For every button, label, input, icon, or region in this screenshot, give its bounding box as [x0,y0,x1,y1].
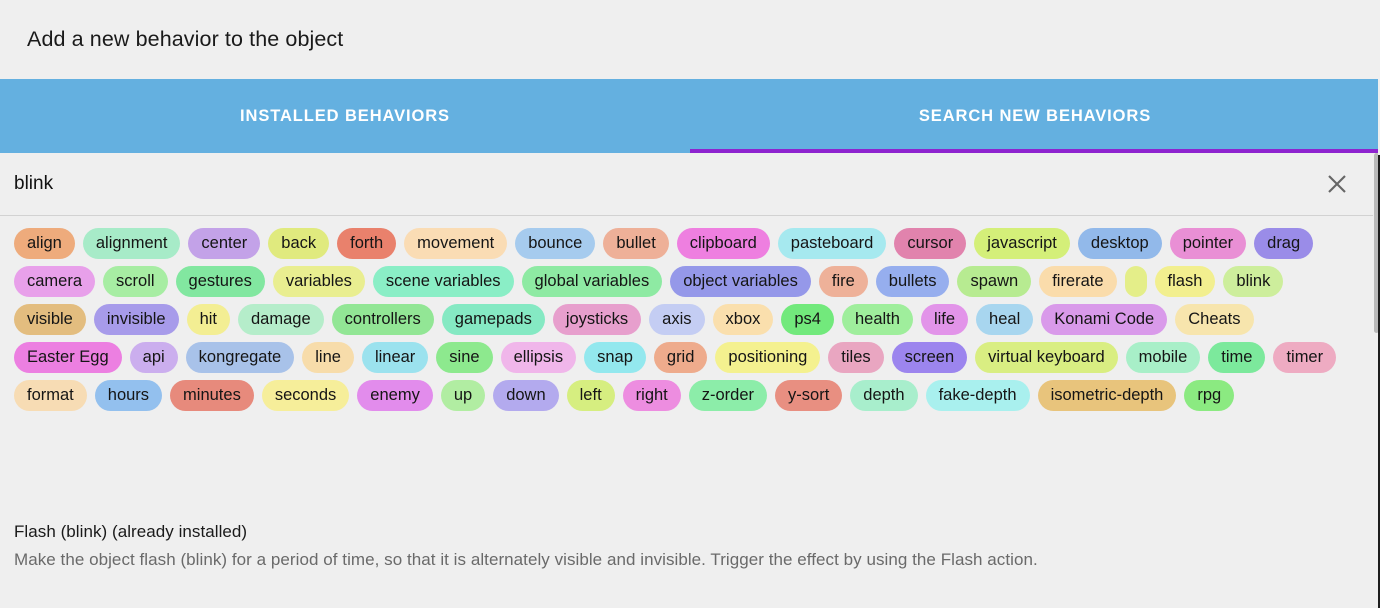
tag-label: health [855,311,900,328]
tag-fire[interactable]: fire [819,266,868,297]
tag-fake-depth[interactable]: fake-depth [926,380,1030,411]
tag-bullets[interactable]: bullets [876,266,950,297]
tag-line[interactable]: line [302,342,354,373]
tag-ellipsis[interactable]: ellipsis [501,342,577,373]
tag-grid[interactable]: grid [654,342,708,373]
tag-firerate[interactable]: firerate [1039,266,1116,297]
behavior-result: Flash (blink) (already installed) Make t… [14,522,1366,570]
tag-drag[interactable]: drag [1254,228,1313,259]
tag-rpg[interactable]: rpg [1184,380,1234,411]
tag-seconds[interactable]: seconds [262,380,349,411]
tag-health[interactable]: health [842,304,913,335]
tag-label: bounce [528,235,582,252]
tag-label: snap [597,349,633,366]
tag-label: heal [989,311,1020,328]
tag-flash[interactable]: flash [1155,266,1216,297]
behavior-result-description: Make the object flash (blink) for a peri… [14,550,1366,570]
tag-label: flash [1168,273,1203,290]
tag-label: forth [350,235,383,252]
tag-object-variables[interactable]: object variables [670,266,811,297]
tag-screen[interactable]: screen [892,342,968,373]
tag-label: down [506,387,545,404]
tag-label: mobile [1139,349,1188,366]
tag-label: line [315,349,341,366]
tag-snap[interactable]: snap [584,342,646,373]
tag-movement[interactable]: movement [404,228,507,259]
tag-global-variables[interactable]: global variables [522,266,663,297]
tag-label: xbox [726,311,761,328]
tab-bar: INSTALLED BEHAVIORS SEARCH NEW BEHAVIORS [0,79,1380,153]
tag-label: right [636,387,668,404]
tag-label: object variables [683,273,798,290]
tag-label: alignment [96,235,168,252]
tag-label: controllers [345,311,421,328]
tag-label: cursor [907,235,953,252]
tag-back[interactable]: back [268,228,329,259]
clear-search-button[interactable] [1320,167,1354,201]
tag-depth[interactable]: depth [850,380,917,411]
tab-installed-behaviors[interactable]: INSTALLED BEHAVIORS [0,79,690,153]
tag-z-order[interactable]: z-order [689,380,767,411]
tag-alignment[interactable]: alignment [83,228,181,259]
tag-label: minutes [183,387,241,404]
tag-label: invisible [107,311,166,328]
tag-cloud: alignalignmentcenterbackforthmovementbou… [14,228,1354,411]
tag-label: global variables [535,273,650,290]
tag-format[interactable]: format [14,380,87,411]
tag-label: fire [832,273,855,290]
tag-label: bullets [889,273,937,290]
tag-blank[interactable] [1125,266,1147,297]
dialog-title: Add a new behavior to the object [27,27,343,52]
tag-label: clipboard [690,235,757,252]
tag-label: desktop [1091,235,1149,252]
tag-enemy[interactable]: enemy [357,380,433,411]
tag-label: axis [662,311,691,328]
tag-label: movement [417,235,494,252]
tag-label: center [201,235,247,252]
tag-forth[interactable]: forth [337,228,396,259]
tag-camera[interactable]: camera [14,266,95,297]
tag-gestures[interactable]: gestures [176,266,265,297]
tag-tiles[interactable]: tiles [828,342,883,373]
tag-left[interactable]: left [567,380,615,411]
tag-hit[interactable]: hit [187,304,230,335]
tag-label: kongregate [199,349,282,366]
tag-ps4[interactable]: ps4 [781,304,834,335]
tab-search-new-behaviors[interactable]: SEARCH NEW BEHAVIORS [690,79,1380,153]
tag-label: tiles [841,349,870,366]
dialog-titlebar: Add a new behavior to the object [0,0,1380,79]
search-input[interactable] [14,164,1320,204]
tag-blink[interactable]: blink [1223,266,1283,297]
tag-pasteboard[interactable]: pasteboard [778,228,887,259]
tag-invisible[interactable]: invisible [94,304,179,335]
tag-label: ps4 [794,311,821,328]
tag-damage[interactable]: damage [238,304,324,335]
tag-label: bullet [616,235,655,252]
tag-easter-egg[interactable]: Easter Egg [14,342,122,373]
behavior-result-title: Flash (blink) (already installed) [14,522,1366,542]
tag-label: sine [449,349,479,366]
tag-label: joysticks [566,311,628,328]
tag-visible[interactable]: visible [14,304,86,335]
tag-label: virtual keyboard [988,349,1104,366]
tag-label: y-sort [788,387,829,404]
tag-label: blink [1236,273,1270,290]
tag-kongregate[interactable]: kongregate [186,342,295,373]
tag-bounce[interactable]: bounce [515,228,595,259]
close-icon [1326,173,1348,195]
tag-cursor[interactable]: cursor [894,228,966,259]
tag-label: grid [667,349,695,366]
tag-label: scene variables [386,273,501,290]
tag-time[interactable]: time [1208,342,1265,373]
tag-label: life [934,311,955,328]
tag-label: up [454,387,472,404]
tag-label: time [1221,349,1252,366]
tag-label: Cheats [1188,311,1240,328]
tag-label: hours [108,387,149,404]
tag-minutes[interactable]: minutes [170,380,254,411]
tag-bullet[interactable]: bullet [603,228,668,259]
tag-label: enemy [370,387,420,404]
tag-filter-area: alignalignmentcenterbackforthmovementbou… [0,216,1380,608]
tag-javascript[interactable]: javascript [974,228,1070,259]
add-behavior-dialog: Add a new behavior to the object INSTALL… [0,0,1380,608]
tag-label: camera [27,273,82,290]
tag-heal[interactable]: heal [976,304,1033,335]
tag-timer[interactable]: timer [1273,342,1336,373]
tag-label: firerate [1052,273,1103,290]
tag-scene-variables[interactable]: scene variables [373,266,514,297]
tag-label: left [580,387,602,404]
tag-label: rpg [1197,387,1221,404]
tag-label: seconds [275,387,336,404]
tag-controllers[interactable]: controllers [332,304,434,335]
tag-label: Easter Egg [27,349,109,366]
tag-right[interactable]: right [623,380,681,411]
tag-axis[interactable]: axis [649,304,704,335]
tag-joysticks[interactable]: joysticks [553,304,641,335]
tag-label: damage [251,311,311,328]
tag-positioning[interactable]: positioning [715,342,820,373]
tag-scroll[interactable]: scroll [103,266,168,297]
tag-label: gestures [189,273,252,290]
tag-mobile[interactable]: mobile [1126,342,1201,373]
tag-label: positioning [728,349,807,366]
tag-up[interactable]: up [441,380,485,411]
tag-pointer[interactable]: pointer [1170,228,1246,259]
tag-label: spawn [970,273,1018,290]
tag-label: gamepads [455,311,532,328]
tag-cheats[interactable]: Cheats [1175,304,1253,335]
tag-life[interactable]: life [921,304,968,335]
tag-label: timer [1286,349,1323,366]
tag-label: fake-depth [939,387,1017,404]
tag-isometric-depth[interactable]: isometric-depth [1038,380,1177,411]
tag-label: drag [1267,235,1300,252]
tag-label: screen [905,349,955,366]
tab-installed-behaviors-label: INSTALLED BEHAVIORS [240,107,450,126]
tag-label: javascript [987,235,1057,252]
tag-label: api [143,349,165,366]
tag-label: variables [286,273,352,290]
tag-label: isometric-depth [1051,387,1164,404]
tag-api[interactable]: api [130,342,178,373]
tag-label: Konami Code [1054,311,1154,328]
tag-label: visible [27,311,73,328]
tag-center[interactable]: center [188,228,260,259]
tag-sine[interactable]: sine [436,342,492,373]
tag-label: depth [863,387,904,404]
tag-variables[interactable]: variables [273,266,365,297]
tag-linear[interactable]: linear [362,342,428,373]
tag-hours[interactable]: hours [95,380,162,411]
tag-label: z-order [702,387,754,404]
tag-label: linear [375,349,415,366]
tag-label: hit [200,311,217,328]
tag-virtual-keyboard[interactable]: virtual keyboard [975,342,1117,373]
tag-desktop[interactable]: desktop [1078,228,1162,259]
tag-label: ellipsis [514,349,564,366]
tag-y-sort[interactable]: y-sort [775,380,842,411]
tag-clipboard[interactable]: clipboard [677,228,770,259]
tab-search-new-behaviors-label: SEARCH NEW BEHAVIORS [919,107,1151,126]
tag-spawn[interactable]: spawn [957,266,1031,297]
tag-xbox[interactable]: xbox [713,304,774,335]
tag-label: pointer [1183,235,1233,252]
tag-label: pasteboard [791,235,874,252]
tag-align[interactable]: align [14,228,75,259]
tag-down[interactable]: down [493,380,558,411]
tag-label: align [27,235,62,252]
tag-gamepads[interactable]: gamepads [442,304,545,335]
search-bar [0,153,1380,216]
tag-label: format [27,387,74,404]
tag-label: back [281,235,316,252]
tag-label: scroll [116,273,155,290]
tag-konami-code[interactable]: Konami Code [1041,304,1167,335]
